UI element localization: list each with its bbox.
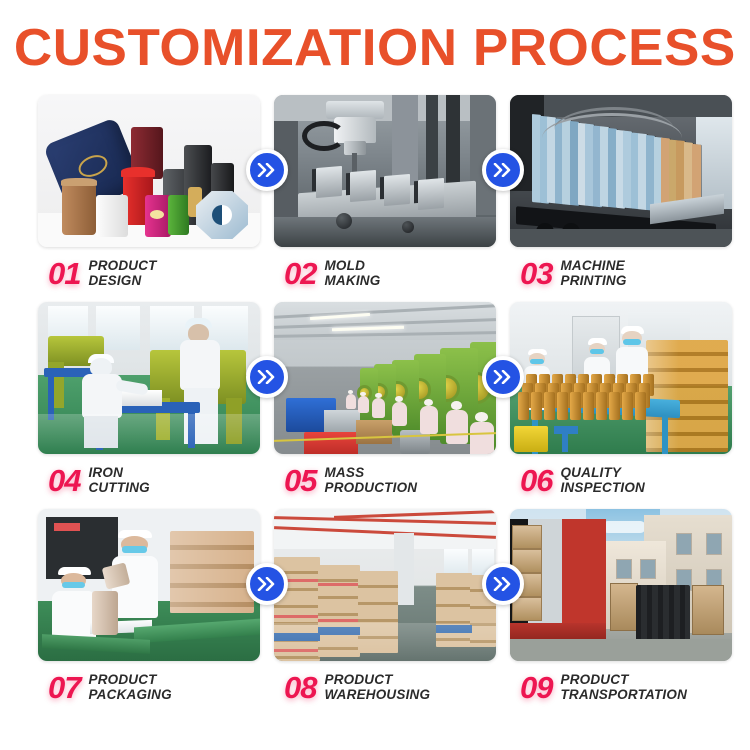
- step-06-number: 06: [520, 465, 552, 496]
- arrow-step-07-to-08[interactable]: [246, 563, 288, 605]
- process-row-2: 04 IRON CUTTING: [38, 302, 712, 498]
- step-04-photo: [38, 302, 260, 454]
- process-step-05[interactable]: 05 MASS PRODUCTION: [274, 302, 496, 498]
- step-03-label: MACHINE PRINTING: [560, 258, 626, 288]
- double-chevron-right-icon: [493, 370, 513, 384]
- arrow-step-05-to-06[interactable]: [482, 356, 524, 398]
- step-05-photo: [274, 302, 496, 454]
- double-chevron-right-icon: [257, 370, 277, 384]
- step-09-photo: [510, 509, 732, 661]
- process-row-1: 01 PRODUCT DESIGN: [38, 95, 712, 291]
- double-chevron-right-icon: [493, 577, 513, 591]
- step-01-label: PRODUCT DESIGN: [88, 258, 156, 288]
- process-step-08[interactable]: 08 PRODUCT WAREHOUSING: [274, 509, 496, 705]
- step-07-label: PRODUCT PACKAGING: [88, 672, 171, 702]
- page-title-area: CUSTOMIZATION PROCESS: [0, 0, 750, 95]
- process-grid: 01 PRODUCT DESIGN: [0, 95, 750, 705]
- step-04-caption: 04 IRON CUTTING: [38, 454, 260, 498]
- step-03-caption: 03 MACHINE PRINTING: [510, 247, 732, 291]
- step-02-number: 02: [284, 258, 316, 289]
- process-step-01[interactable]: 01 PRODUCT DESIGN: [38, 95, 260, 291]
- arrow-step-02-to-03[interactable]: [482, 149, 524, 191]
- process-step-09[interactable]: 09 PRODUCT TRANSPORTATION: [510, 509, 732, 705]
- step-09-label: PRODUCT TRANSPORTATION: [560, 672, 687, 702]
- process-step-06[interactable]: 06 QUALITY INSPECTION: [510, 302, 732, 498]
- process-step-03[interactable]: 03 MACHINE PRINTING: [510, 95, 732, 291]
- step-08-caption: 08 PRODUCT WAREHOUSING: [274, 661, 496, 705]
- process-step-07[interactable]: 07 PRODUCT PACKAGING: [38, 509, 260, 705]
- step-01-caption: 01 PRODUCT DESIGN: [38, 247, 260, 291]
- step-07-caption: 07 PRODUCT PACKAGING: [38, 661, 260, 705]
- double-chevron-right-icon: [257, 577, 277, 591]
- customization-process-infographic: CUSTOMIZATION PROCESS: [0, 0, 750, 750]
- step-09-caption: 09 PRODUCT TRANSPORTATION: [510, 661, 732, 705]
- step-01-number: 01: [48, 258, 80, 289]
- step-05-caption: 05 MASS PRODUCTION: [274, 454, 496, 498]
- double-chevron-right-icon: [493, 163, 513, 177]
- page-title: CUSTOMIZATION PROCESS: [14, 22, 736, 74]
- step-07-photo: [38, 509, 260, 661]
- double-chevron-right-icon: [257, 163, 277, 177]
- step-07-number: 07: [48, 672, 80, 703]
- step-03-number: 03: [520, 258, 552, 289]
- step-06-photo: [510, 302, 732, 454]
- step-05-number: 05: [284, 465, 316, 496]
- step-04-number: 04: [48, 465, 80, 496]
- arrow-step-08-to-09[interactable]: [482, 563, 524, 605]
- arrow-step-01-to-02[interactable]: [246, 149, 288, 191]
- step-03-photo: [510, 95, 732, 247]
- step-08-photo: [274, 509, 496, 661]
- step-08-label: PRODUCT WAREHOUSING: [324, 672, 430, 702]
- process-step-02[interactable]: 02 MOLD MAKING: [274, 95, 496, 291]
- process-row-3: 07 PRODUCT PACKAGING: [38, 509, 712, 705]
- step-01-photo: [38, 95, 260, 247]
- step-09-number: 09: [520, 672, 552, 703]
- step-08-number: 08: [284, 672, 316, 703]
- arrow-step-04-to-05[interactable]: [246, 356, 288, 398]
- process-step-04[interactable]: 04 IRON CUTTING: [38, 302, 260, 498]
- step-02-photo: [274, 95, 496, 247]
- step-06-caption: 06 QUALITY INSPECTION: [510, 454, 732, 498]
- step-04-label: IRON CUTTING: [88, 465, 149, 495]
- step-02-label: MOLD MAKING: [324, 258, 380, 288]
- step-05-label: MASS PRODUCTION: [324, 465, 417, 495]
- step-02-caption: 02 MOLD MAKING: [274, 247, 496, 291]
- step-06-label: QUALITY INSPECTION: [560, 465, 645, 495]
